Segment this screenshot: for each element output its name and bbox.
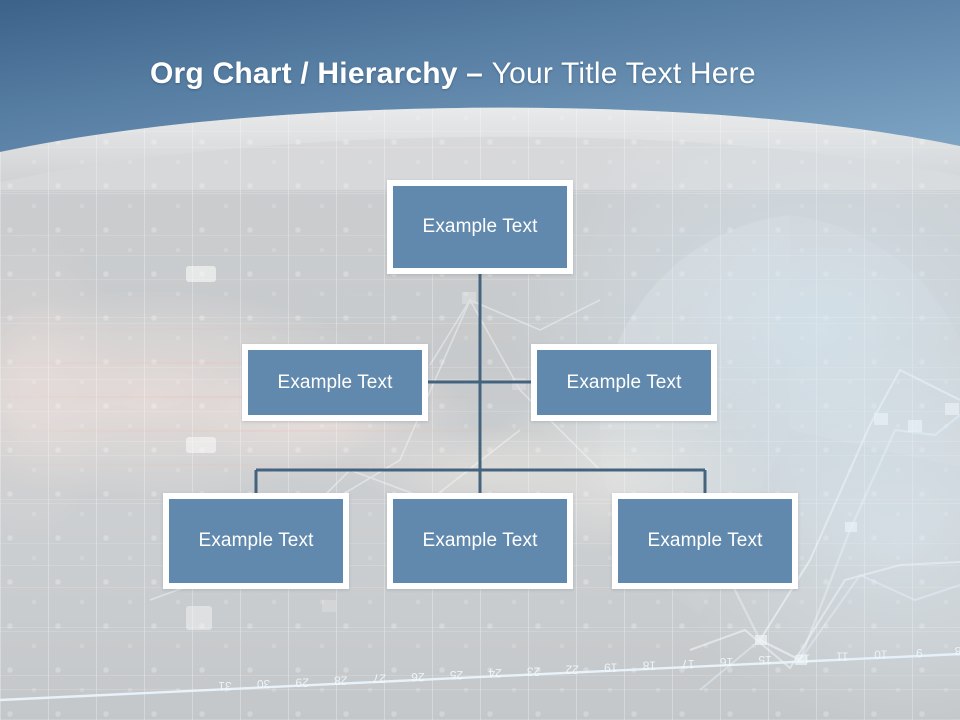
org-node-bottom-left-label: Example Text [199, 530, 314, 552]
org-node-bottom-right[interactable]: Example Text [612, 493, 798, 589]
org-node-bottom-mid[interactable]: Example Text [387, 493, 573, 589]
slide-canvas: 31302928272625242322191817161512111098 [0, 0, 960, 720]
org-node-bottom-right-label: Example Text [648, 530, 763, 552]
org-node-top-label: Example Text [423, 216, 538, 238]
org-node-bottom-left[interactable]: Example Text [163, 493, 349, 589]
org-chart: Example Text Example Text Example Text E… [0, 0, 960, 720]
org-node-mid-right-label: Example Text [567, 372, 682, 394]
org-node-top[interactable]: Example Text [387, 180, 573, 274]
org-chart-connectors [0, 0, 960, 720]
org-node-bottom-mid-label: Example Text [423, 530, 538, 552]
org-node-mid-left-label: Example Text [278, 372, 393, 394]
org-node-mid-left[interactable]: Example Text [242, 344, 428, 421]
org-node-mid-right[interactable]: Example Text [531, 344, 717, 421]
